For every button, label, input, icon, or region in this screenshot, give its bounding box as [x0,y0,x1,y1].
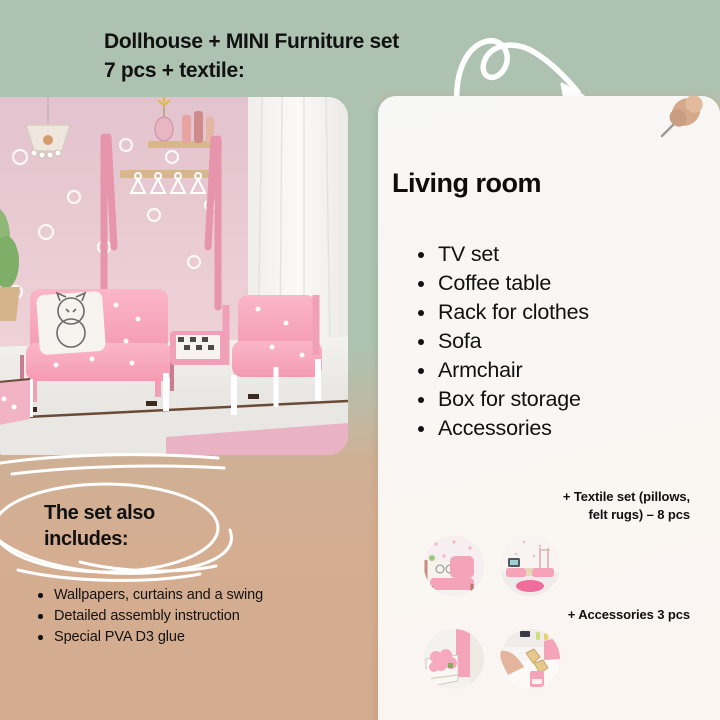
dollhouse-living-room-illustration [0,97,348,455]
list-item: Special PVA D3 glue [34,627,364,648]
list-item: TV set [414,240,704,269]
textile-note-line-1: + Textile set (pillows, [428,488,690,506]
list-item: Box for storage [414,385,704,414]
thumbnail-pink-textile-box[interactable] [424,629,484,689]
list-item: Detailed assembly instruction [34,606,364,627]
also-includes-list: Wallpapers, curtains and a swing Detaile… [34,585,364,648]
list-item: Accessories [414,414,704,443]
list-item: Wallpapers, curtains and a swing [34,585,364,606]
page-title: Dollhouse + MINI Furniture set 7 pcs + t… [104,28,504,85]
list-item: Rack for clothes [414,298,704,327]
textile-set-note: + Textile set (pillows, felt rugs) – 8 p… [428,488,690,523]
accessories-detail-image [500,629,560,689]
hero-photo [0,97,348,455]
thumbnail-armchair-with-pillows[interactable] [424,536,484,596]
pushpin-icon [652,88,708,144]
list-item: Sofa [414,327,704,356]
living-room-item-list: TV set Coffee table Rack for clothes Sof… [414,240,704,443]
thumbnail-accessories-detail[interactable] [500,629,560,689]
list-item: Coffee table [414,269,704,298]
armchair-with-pillows-image [424,536,484,596]
title-line-1: Dollhouse + MINI Furniture set [104,28,504,57]
also-title-line-2: includes: [44,526,254,552]
poster-canvas: Dollhouse + MINI Furniture set 7 pcs + t… [0,0,720,720]
list-item: Armchair [414,356,704,385]
also-includes-title: The set also includes: [44,500,254,553]
living-room-with-rug-image [500,536,560,596]
card-title: Living room [392,168,541,199]
thumbnail-living-room-with-rug[interactable] [500,536,560,596]
title-line-2: 7 pcs + textile: [104,57,504,86]
pink-textile-box-image [424,629,484,689]
textile-note-line-2: felt rugs) – 8 pcs [428,506,690,524]
also-title-line-1: The set also [44,500,254,526]
accessories-note: + Accessories 3 pcs [428,606,690,624]
